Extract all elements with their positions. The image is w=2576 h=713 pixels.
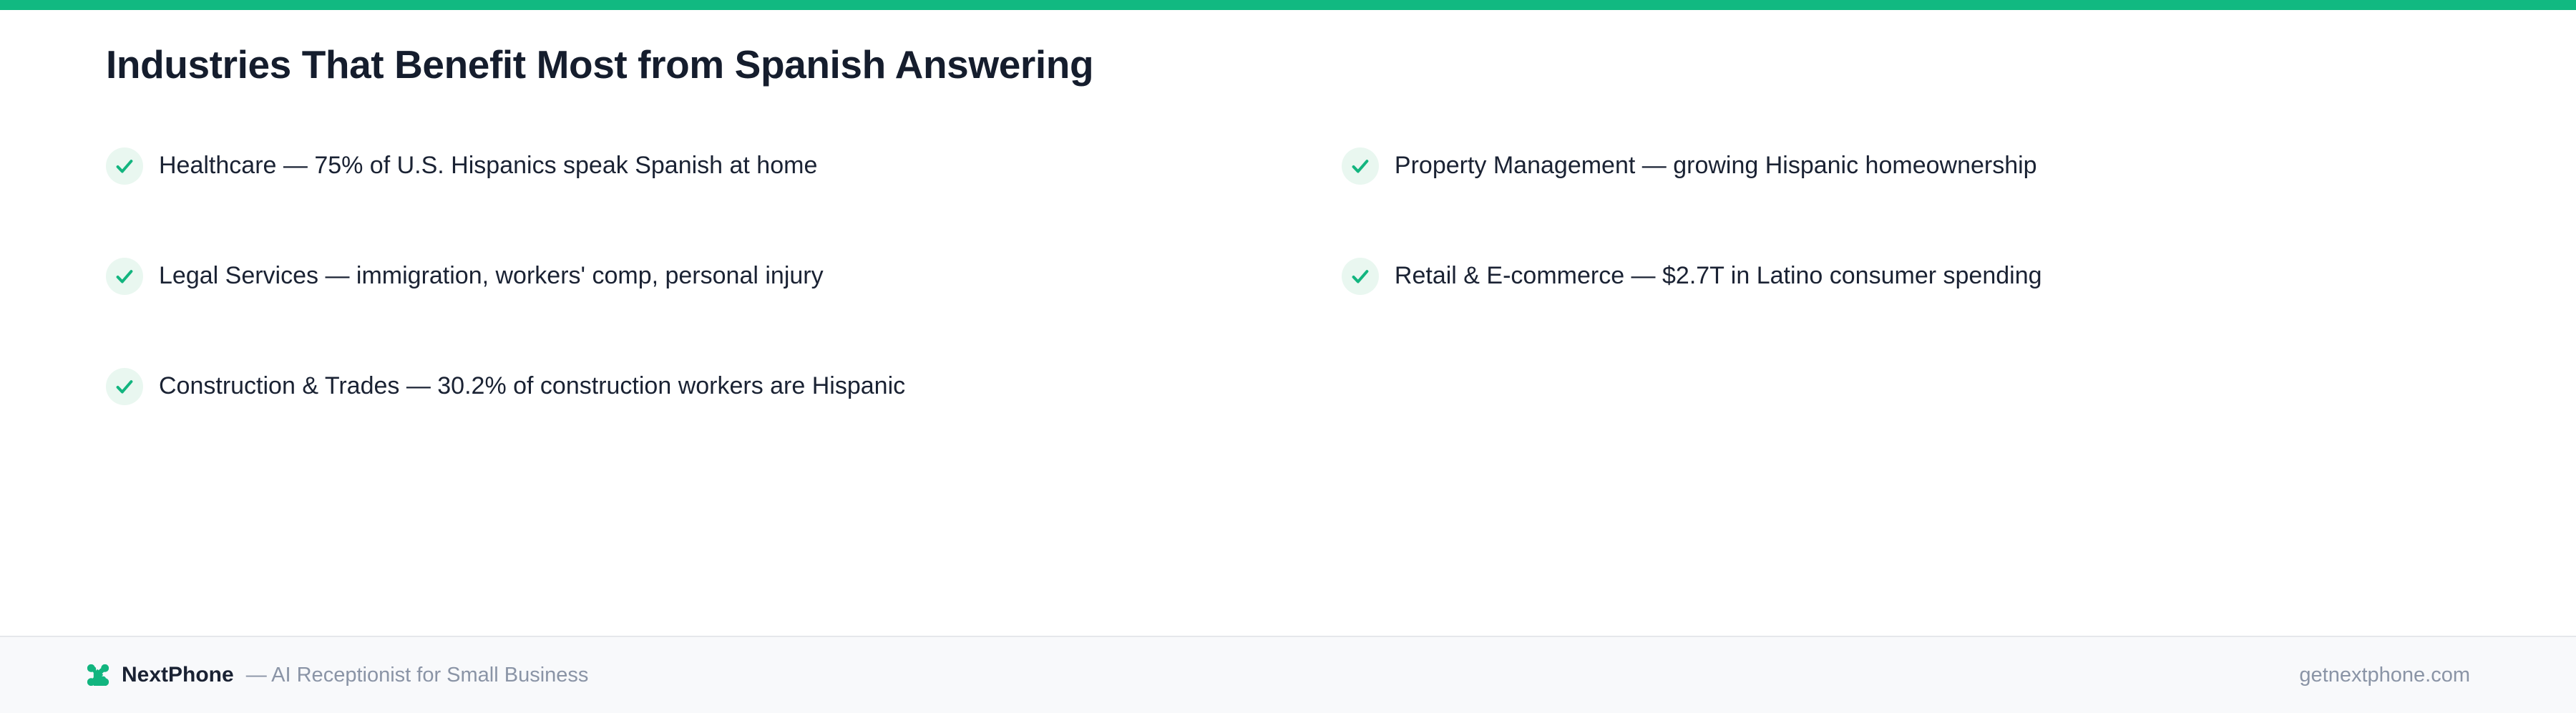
check-icon [106, 147, 143, 185]
list-item: Legal Services — immigration, workers' c… [106, 235, 1299, 318]
footer-brand-group: NextPhone — AI Receptionist for Small Bu… [87, 663, 588, 687]
list-item: Healthcare — 75% of U.S. Hispanics speak… [106, 125, 1299, 208]
list-item-label: Property Management — growing Hispanic h… [1395, 147, 2037, 183]
check-icon [1342, 258, 1379, 295]
footer-bar: NextPhone — AI Receptionist for Small Bu… [0, 636, 2576, 713]
bullet-column-left: Healthcare — 75% of U.S. Hispanics speak… [106, 125, 1342, 455]
check-icon [1342, 147, 1379, 185]
list-item: Construction & Trades — 30.2% of constru… [106, 345, 1299, 428]
footer-tagline: — AI Receptionist for Small Business [246, 664, 589, 687]
list-item-label: Retail & E-commerce — $2.7T in Latino co… [1395, 258, 2042, 294]
page-title: Industries That Benefit Most from Spanis… [106, 43, 2470, 87]
slide-content: Industries That Benefit Most from Spanis… [0, 10, 2576, 713]
nextphone-clover-icon [87, 664, 109, 686]
list-item: Property Management — growing Hispanic h… [1342, 125, 2470, 208]
check-icon [106, 258, 143, 295]
list-item-label: Construction & Trades — 30.2% of constru… [159, 368, 905, 404]
list-item-label: Healthcare — 75% of U.S. Hispanics speak… [159, 147, 817, 183]
slide-root: Industries That Benefit Most from Spanis… [0, 0, 2576, 713]
top-accent-bar [0, 0, 2576, 10]
footer-url: getnextphone.com [2299, 664, 2470, 687]
bullet-columns: Healthcare — 75% of U.S. Hispanics speak… [106, 125, 2470, 455]
list-item: Retail & E-commerce — $2.7T in Latino co… [1342, 235, 2470, 318]
check-icon [106, 368, 143, 405]
list-item-label: Legal Services — immigration, workers' c… [159, 258, 824, 294]
bullet-column-right: Property Management — growing Hispanic h… [1342, 125, 2470, 345]
footer-brand-name: NextPhone [122, 663, 234, 687]
